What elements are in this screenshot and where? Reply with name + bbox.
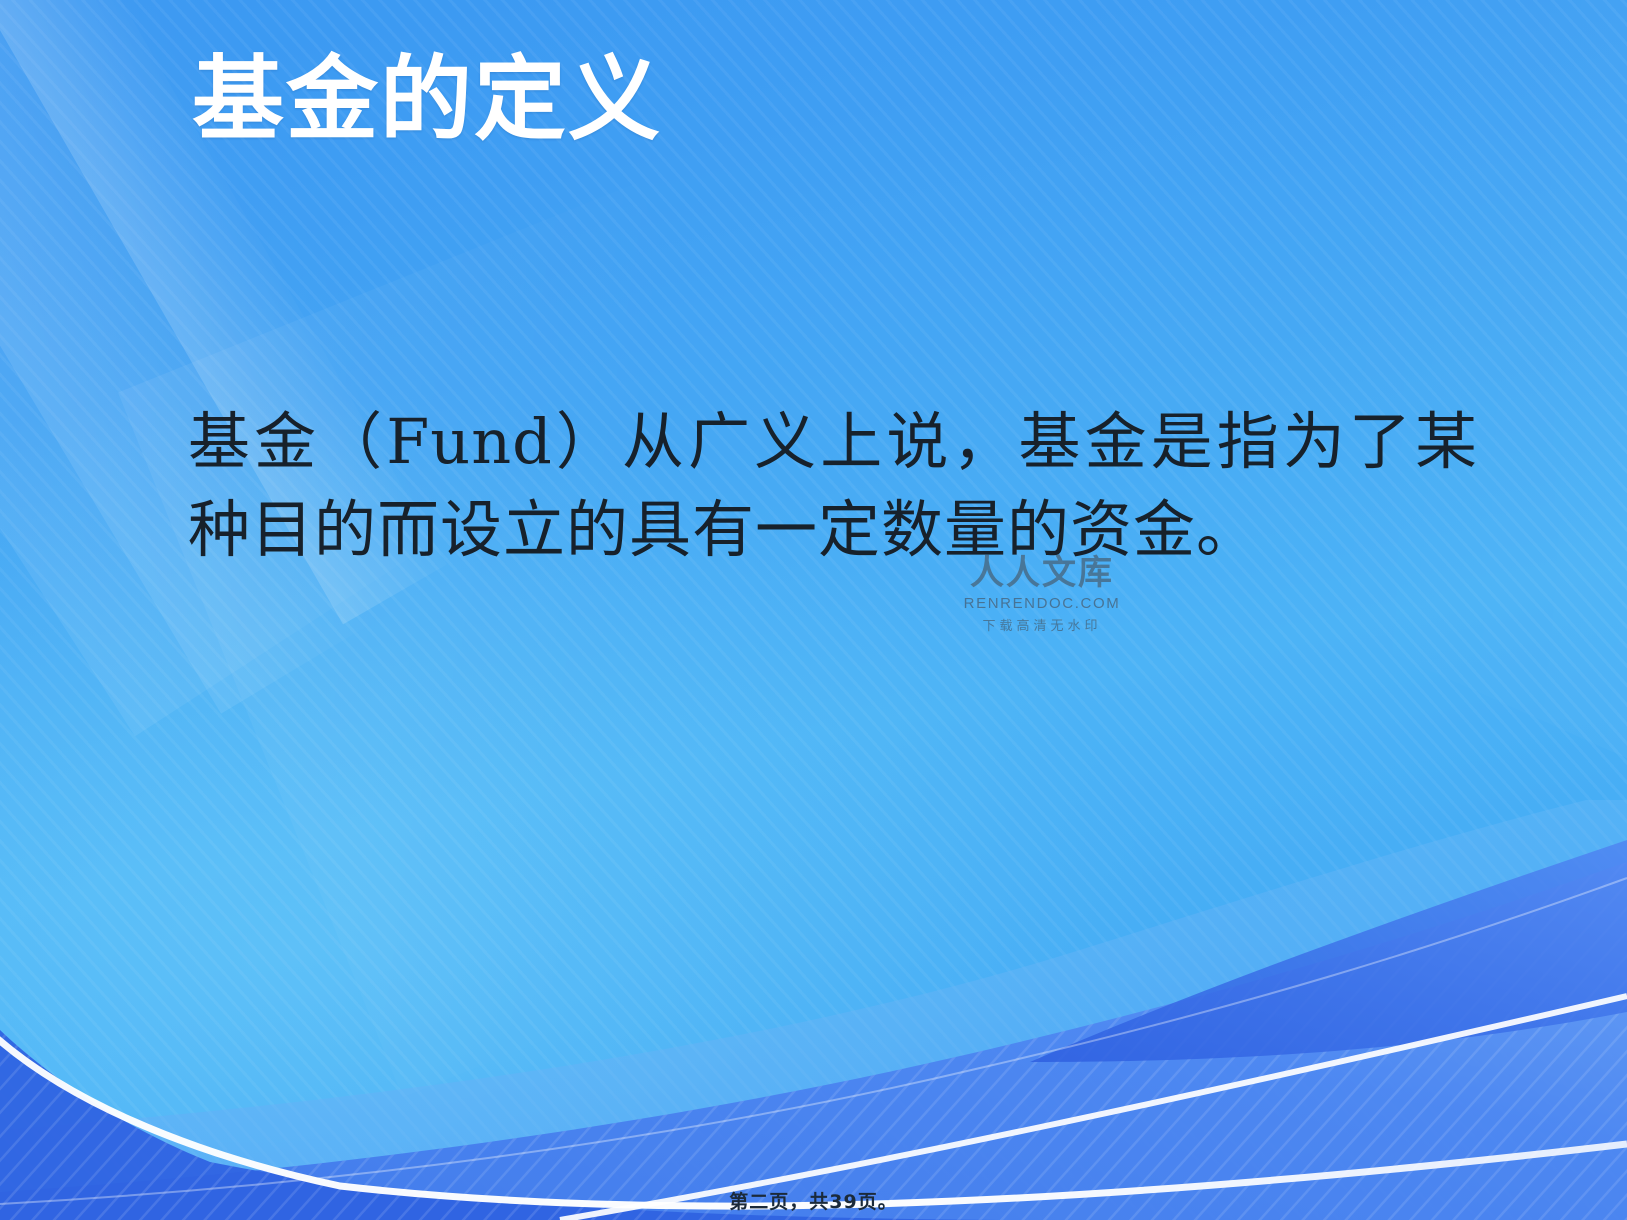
slide-body-text: 基金（Fund）从广义上说，基金是指为了某种目的而设立的具有一定数量的资金。: [188, 398, 1478, 574]
slide-canvas: 基金的定义 基金（Fund）从广义上说，基金是指为了某种目的而设立的具有一定数量…: [0, 0, 1627, 1220]
slide-background: [0, 0, 1627, 1220]
page-number-footer: 第二页，共39页。: [0, 1187, 1627, 1214]
slide-title: 基金的定义: [192, 42, 662, 157]
